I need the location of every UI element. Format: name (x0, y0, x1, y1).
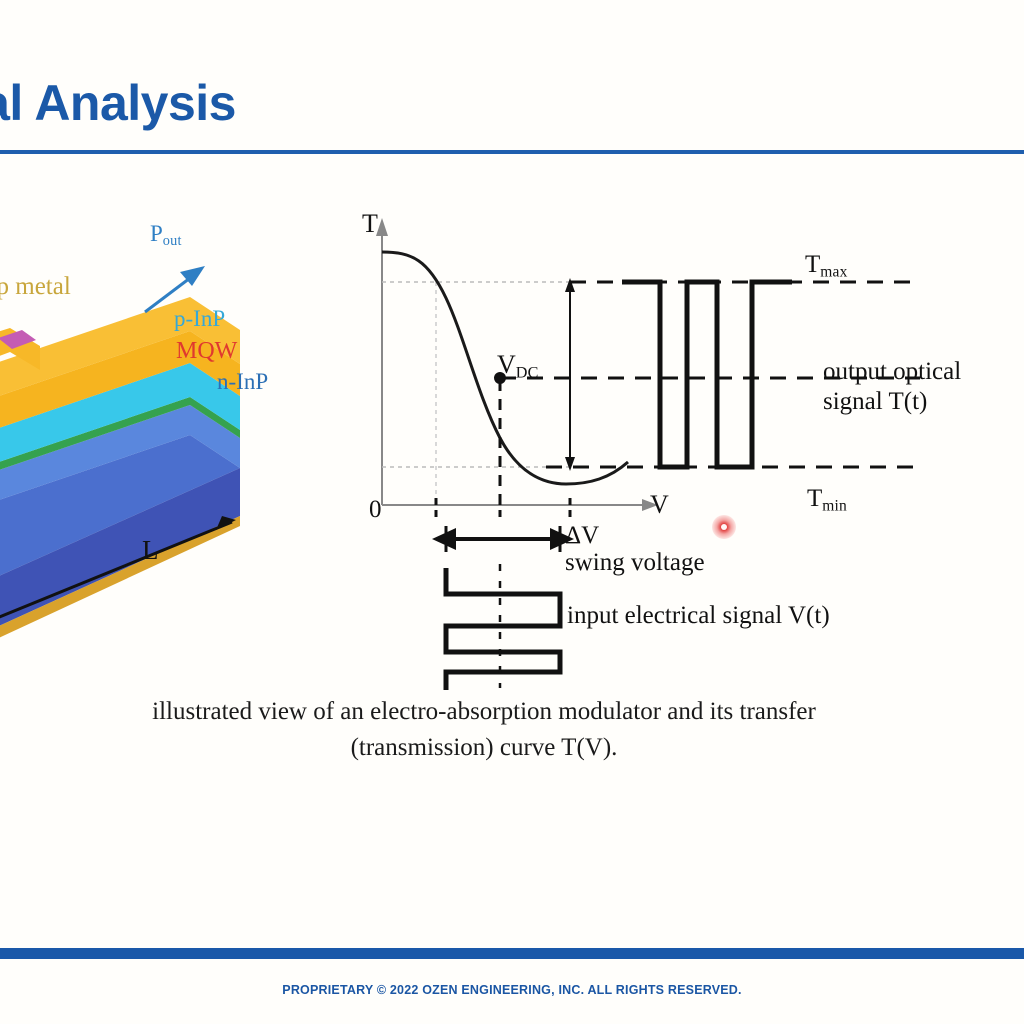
caption-line-2: (transmission) curve T(V). (0, 730, 996, 766)
caption-line-1: illustrated view of an electro-absorptio… (152, 698, 816, 725)
label-n-inp: n-InP (217, 369, 268, 395)
label-t-max: Tmax (805, 251, 848, 281)
delta-v-arrow-left (432, 528, 456, 550)
label-p-out: Pout (150, 221, 182, 250)
presentation-slide: gnal Analysis (0, 0, 1024, 1024)
page-title: gnal Analysis (0, 74, 236, 132)
footer-divider (0, 948, 1024, 959)
label-top-metal: op metal (0, 273, 71, 301)
label-output-optical-line1: output optical (823, 358, 961, 386)
range-arrow-down (565, 457, 575, 471)
label-output-optical-line2: signal T(t) (823, 388, 927, 416)
label-v-dc: VDC (497, 350, 539, 383)
label-p-inp: p-InP (174, 306, 225, 332)
figure-caption: illustrated view of an electro-absorptio… (0, 694, 996, 767)
output-optical-waveform (622, 282, 792, 467)
title-divider (0, 150, 1024, 154)
y-axis-label: T (362, 209, 378, 239)
figure-electro-absorption-modulator: op metal Pout p-InP MQW n-InP L (0, 160, 1024, 690)
origin-label: 0 (369, 496, 382, 524)
footer-copyright: PROPRIETARY © 2022 OZEN ENGINEERING, INC… (0, 983, 1024, 997)
label-delta-v: ΔV (565, 522, 599, 550)
label-mqw: MQW (176, 338, 237, 365)
x-axis-label: V (650, 490, 669, 520)
label-t-min: Tmin (807, 485, 847, 515)
label-input-electrical-signal: input electrical signal V(t) (567, 602, 830, 630)
range-arrow-up (565, 278, 575, 292)
input-electrical-waveform (446, 568, 560, 690)
cursor-click-indicator (712, 515, 736, 539)
label-swing-voltage: swing voltage (565, 549, 705, 577)
label-length: L (142, 535, 159, 566)
